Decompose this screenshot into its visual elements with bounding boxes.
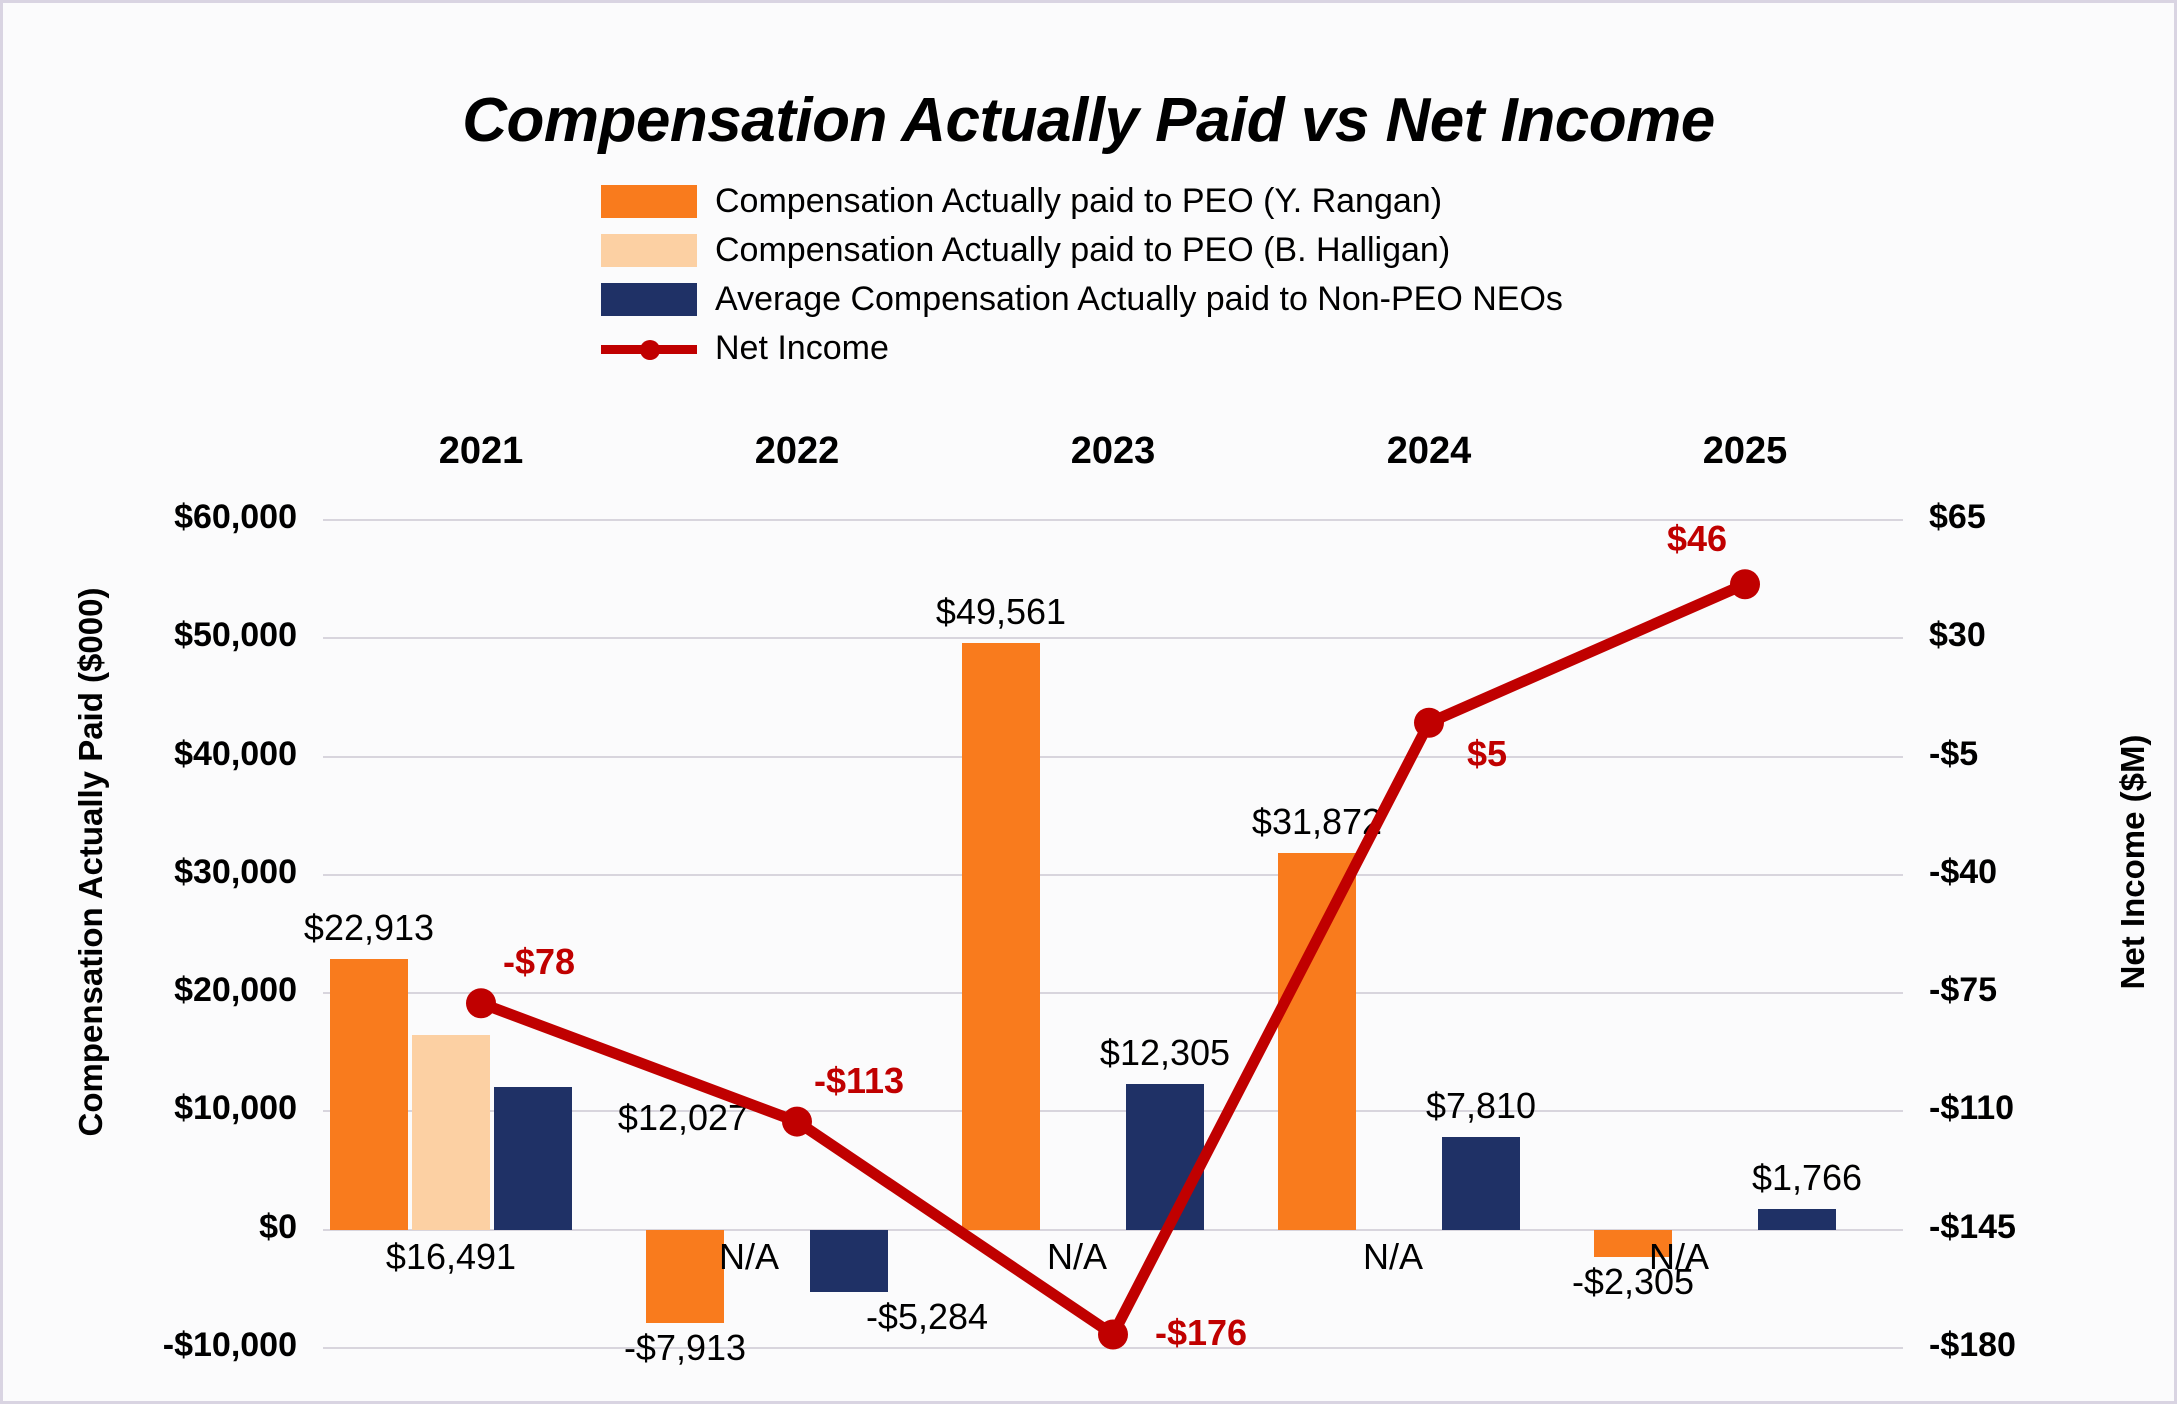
legend-item-peo-rangan[interactable]: Compensation Actually paid to PEO (Y. Ra… — [601, 181, 1563, 221]
net-income-label-2023: -$176 — [1101, 1312, 1301, 1354]
x-axis-label-2025: 2025 — [1587, 430, 1903, 473]
bar-label-2023-series-0: $49,561 — [866, 591, 1136, 633]
x-axis-label-2022: 2022 — [639, 430, 955, 473]
bar-label-2021-series-2: $12,027 — [548, 1097, 818, 1139]
legend-item-nonpeo-neos[interactable]: Average Compensation Actually paid to No… — [601, 279, 1563, 319]
bar-2021-series-0[interactable] — [330, 959, 408, 1230]
bar-label-2022-series-0: -$7,913 — [550, 1327, 820, 1369]
y-axis-left-tick-label: $20,000 — [3, 971, 297, 1010]
bar-2021-series-1[interactable] — [412, 1035, 490, 1230]
net-income-label-2024: $5 — [1387, 733, 1587, 775]
bar-label-2024-series-1: N/A — [1258, 1236, 1528, 1278]
bar-2023-series-0[interactable] — [962, 643, 1040, 1229]
legend-dot-marker — [640, 340, 660, 360]
y-axis-left-tick-label: $10,000 — [3, 1089, 297, 1128]
legend-swatch-nonpeo-neos — [601, 283, 697, 316]
y-axis-right-tick-label: -$75 — [1929, 971, 1997, 1010]
legend-label-peo-halligan: Compensation Actually paid to PEO (B. Ha… — [715, 233, 1450, 267]
y-axis-left-tick-label: -$10,000 — [3, 1326, 297, 1365]
legend-item-peo-halligan[interactable]: Compensation Actually paid to PEO (B. Ha… — [601, 230, 1563, 270]
plot-area: 20212022202320242025 $22,913-$7,913$49,5… — [323, 520, 1903, 1348]
y-axis-right-tick-label: $65 — [1929, 498, 1986, 537]
y-axis-left-tick-label: $0 — [3, 1208, 297, 1247]
y-axis-right-title: Net Income ($M) — [2114, 552, 2152, 1172]
gridline — [323, 637, 1903, 639]
bar-label-2025-series-1: N/A — [1544, 1236, 1814, 1278]
legend-swatch-peo-rangan — [601, 185, 697, 218]
gridline — [323, 756, 1903, 758]
bar-label-2024-series-0: $31,872 — [1182, 801, 1452, 843]
net-income-point-2025[interactable] — [1730, 569, 1760, 599]
chart-canvas: Compensation Actually Paid vs Net Income… — [0, 0, 2177, 1404]
y-axis-right-tick-label: $30 — [1929, 616, 1986, 655]
bar-2024-series-2[interactable] — [1442, 1137, 1520, 1229]
x-axis-label-2021: 2021 — [323, 430, 639, 473]
legend-label-peo-rangan: Compensation Actually paid to PEO (Y. Ra… — [715, 184, 1442, 218]
bar-label-2022-series-2: -$5,284 — [792, 1296, 1062, 1338]
x-axis-label-2024: 2024 — [1271, 430, 1587, 473]
legend-item-net-income[interactable]: Net Income — [601, 328, 1563, 368]
page-title: Compensation Actually Paid vs Net Income — [3, 85, 2174, 156]
net-income-label-2025: $46 — [1597, 518, 1797, 560]
gridline — [323, 874, 1903, 876]
y-axis-right-tick-label: -$40 — [1929, 853, 1997, 892]
bar-label-2023-series-2: $12,305 — [1030, 1032, 1300, 1074]
y-axis-right-tick-label: -$5 — [1929, 735, 1978, 774]
gridline — [323, 992, 1903, 994]
x-axis-label-2023: 2023 — [955, 430, 1271, 473]
net-income-polyline — [481, 584, 1745, 1334]
net-income-label-2022: -$113 — [759, 1060, 959, 1102]
y-axis-left-tick-label: $60,000 — [3, 498, 297, 537]
bar-label-2025-series-2: $1,766 — [1672, 1157, 1942, 1199]
legend-label-net-income: Net Income — [715, 331, 889, 365]
bar-label-2021-series-1: $16,491 — [316, 1236, 586, 1278]
y-axis-right-tick-label: -$180 — [1929, 1326, 2016, 1365]
net-income-label-2021: -$78 — [439, 941, 639, 983]
y-axis-left-tick-label: $30,000 — [3, 853, 297, 892]
y-axis-left-tick-label: $50,000 — [3, 616, 297, 655]
bar-2025-series-2[interactable] — [1758, 1209, 1836, 1230]
bar-label-2023-series-1: N/A — [942, 1236, 1212, 1278]
legend-marker-net-income — [601, 332, 697, 365]
y-axis-right-tick-label: -$145 — [1929, 1208, 2016, 1247]
bar-2023-series-2[interactable] — [1126, 1084, 1204, 1230]
bar-2022-series-2[interactable] — [810, 1230, 888, 1293]
y-axis-left-tick-label: $40,000 — [3, 735, 297, 774]
legend-label-nonpeo-neos: Average Compensation Actually paid to No… — [715, 282, 1563, 316]
legend-swatch-peo-halligan — [601, 234, 697, 267]
bar-label-2024-series-2: $7,810 — [1346, 1085, 1616, 1127]
chart-legend: Compensation Actually paid to PEO (Y. Ra… — [601, 181, 1563, 368]
y-axis-right-tick-label: -$110 — [1929, 1089, 2014, 1128]
